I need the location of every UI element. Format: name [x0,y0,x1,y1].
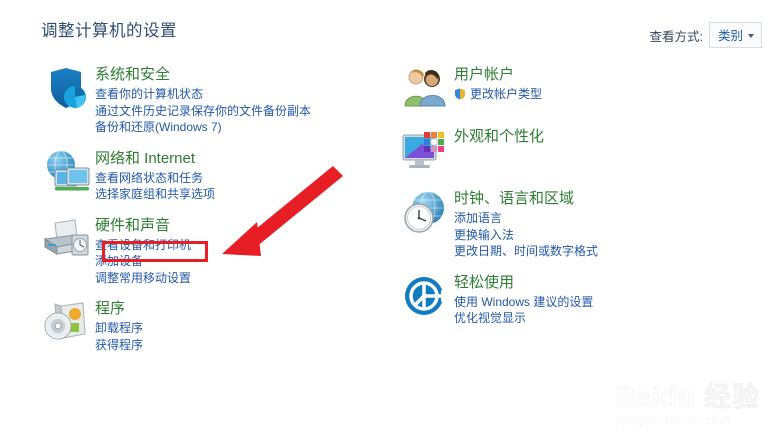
category-link[interactable]: 通过文件历史记录保存你的文件备份副本 [95,103,311,120]
watermark: Baidu 经验 jingyan.baidu.com [615,382,760,428]
category-link[interactable]: 选择家庭组和共享选项 [95,186,215,203]
category-body: 用户帐户更改帐户类型 [454,64,542,103]
category-link-label: 更改帐户类型 [470,86,542,103]
category-link[interactable]: 卸载程序 [95,320,143,337]
category-column-left: 系统和安全查看你的计算机状态通过文件历史记录保存你的文件备份副本备份和还原(Wi… [41,64,371,365]
category-body: 轻松使用使用 Windows 建议的设置优化视觉显示 [454,272,593,327]
category-title[interactable]: 硬件和声音 [95,216,191,235]
category-link[interactable]: 获得程序 [95,337,143,354]
category-body: 硬件和声音查看设备和打印机添加设备调整常用移动设置 [95,215,191,287]
category-body: 系统和安全查看你的计算机状态通过文件历史记录保存你的文件备份副本备份和还原(Wi… [95,64,311,136]
category-item: 用户帐户更改帐户类型 [400,64,730,114]
view-by-value: 类别 [718,25,743,44]
clock-globe-icon[interactable] [400,188,454,238]
uac-shield-icon [454,88,466,100]
category-link[interactable]: 备份和还原(Windows 7) [95,119,311,136]
category-link[interactable]: 更改帐户类型 [454,86,542,103]
network-globe-icon[interactable] [41,148,95,198]
category-link[interactable]: 查看你的计算机状态 [95,86,311,103]
category-item: 网络和 Internet查看网络状态和任务选择家庭组和共享选项 [41,148,371,203]
category-link[interactable]: 使用 Windows 建议的设置 [454,294,593,311]
view-by-label: 查看方式: [650,26,703,45]
user-accounts-icon[interactable] [400,64,454,114]
view-by-dropdown[interactable]: 类别 [709,22,762,48]
category-link[interactable]: 查看设备和打印机 [95,237,191,254]
category-link[interactable]: 更换输入法 [454,227,598,244]
category-item: 时钟、语言和区域添加语言更换输入法更改日期、时间或数字格式 [400,188,730,260]
ease-of-access-icon[interactable] [400,272,454,322]
category-title[interactable]: 网络和 Internet [95,149,215,168]
watermark-main: Baidu 经验 [615,382,760,412]
page-title: 调整计算机的设置 [41,17,177,41]
category-title[interactable]: 轻松使用 [454,273,593,292]
category-column-right: 用户帐户更改帐户类型 外观和个性化 [400,64,730,339]
shield-security-icon[interactable] [41,64,95,114]
category-item: 系统和安全查看你的计算机状态通过文件历史记录保存你的文件备份副本备份和还原(Wi… [41,64,371,136]
category-title[interactable]: 程序 [95,299,143,318]
view-by-control: 查看方式: 类别 [650,22,763,48]
printer-sound-icon[interactable] [41,215,95,265]
category-title[interactable]: 用户帐户 [454,65,542,84]
programs-disc-icon[interactable] [41,298,95,348]
category-body: 外观和个性化 [454,126,544,148]
watermark-sub: jingyan.baidu.com [615,412,760,428]
category-item: 程序卸载程序获得程序 [41,298,371,353]
category-link[interactable]: 调整常用移动设置 [95,270,191,287]
category-item: 轻松使用使用 Windows 建议的设置优化视觉显示 [400,272,730,327]
appearance-monitor-icon[interactable] [400,126,454,176]
category-title[interactable]: 时钟、语言和区域 [454,189,598,208]
category-link[interactable]: 添加语言 [454,210,598,227]
category-title[interactable]: 外观和个性化 [454,127,544,146]
category-item: 外观和个性化 [400,126,730,176]
category-body: 程序卸载程序获得程序 [95,298,143,353]
category-body: 时钟、语言和区域添加语言更换输入法更改日期、时间或数字格式 [454,188,598,260]
category-link[interactable]: 优化视觉显示 [454,310,593,327]
category-link[interactable]: 更改日期、时间或数字格式 [454,243,598,260]
category-body: 网络和 Internet查看网络状态和任务选择家庭组和共享选项 [95,148,215,203]
category-title[interactable]: 系统和安全 [95,65,311,84]
category-link[interactable]: 查看网络状态和任务 [95,170,215,187]
category-item: 硬件和声音查看设备和打印机添加设备调整常用移动设置 [41,215,371,287]
chevron-down-icon [748,34,754,38]
category-link[interactable]: 添加设备 [95,253,191,270]
